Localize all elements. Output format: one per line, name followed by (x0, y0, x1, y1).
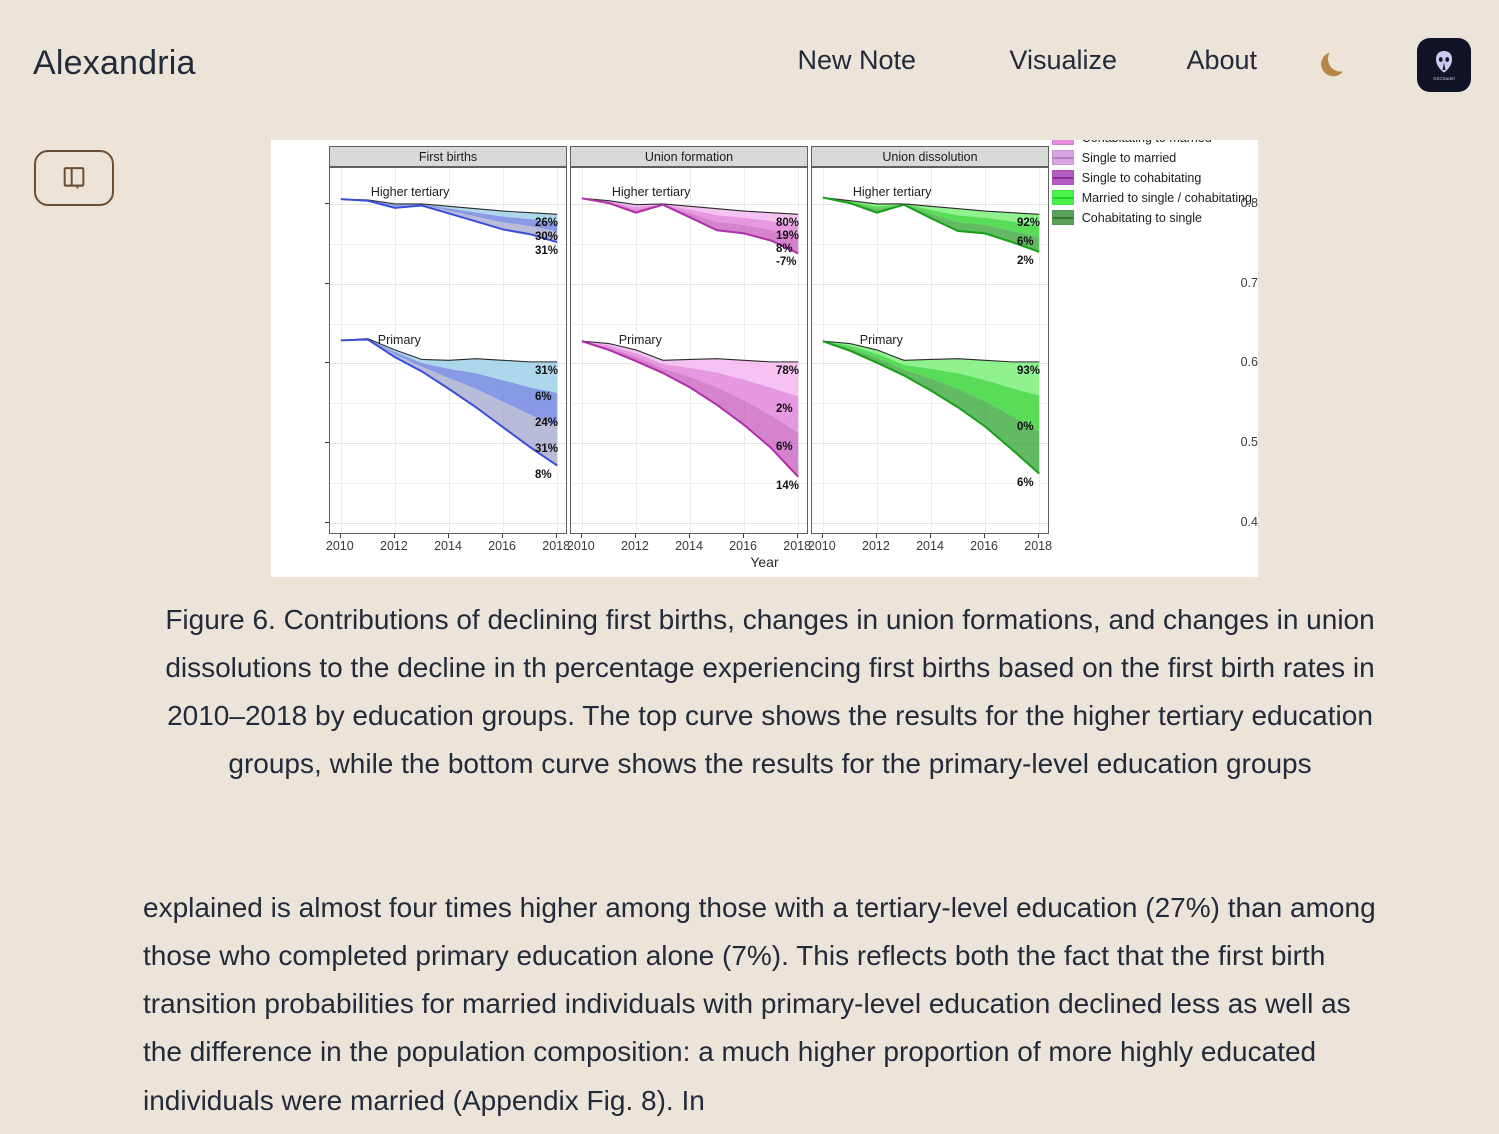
curve-group-label: Primary (860, 333, 903, 347)
chart-panel (329, 167, 567, 534)
legend-swatch (1052, 140, 1074, 145)
dark-mode-toggle[interactable] (1309, 40, 1359, 90)
legend-item: Cohabitating to single (1052, 210, 1252, 225)
facet-strip-label: Union formation (570, 146, 808, 167)
x-axis-tick-mark (340, 534, 341, 538)
contribution-percent-label: 19% (776, 230, 799, 242)
curve-group-label: Higher tertiary (612, 185, 691, 199)
legend-swatch (1052, 150, 1074, 165)
contribution-percent-label: 0% (1017, 421, 1034, 433)
y-axis-tick: 0.4 (1208, 515, 1258, 529)
curve-group-label: Primary (378, 333, 421, 347)
x-axis-tick-mark (743, 534, 744, 538)
contribution-percent-label: 2% (1017, 255, 1034, 267)
x-axis-tick-mark (581, 534, 582, 538)
nav-link-about[interactable]: About (1186, 45, 1257, 76)
y-axis-tick: 0.6 (1208, 355, 1258, 369)
curve-group-label: Higher tertiary (853, 185, 932, 199)
legend-swatch (1052, 190, 1074, 205)
legend-item: Single to married (1052, 150, 1252, 165)
legend-item: Cohabitating to married (1052, 140, 1252, 145)
x-axis-tick-mark (822, 534, 823, 538)
x-axis-tick: 2014 (675, 539, 703, 553)
moon-icon (1314, 45, 1354, 85)
contribution-percent-label: 6% (535, 391, 552, 403)
contribution-percent-label: 8% (776, 243, 793, 255)
legend-label: Cohabitating to married (1082, 140, 1212, 145)
x-axis-tick: 2014 (916, 539, 944, 553)
chart-legend: Cohabitating to marriedSingle to married… (1052, 140, 1252, 225)
x-axis-label: Year (271, 554, 1258, 570)
contribution-percent-label: 2% (776, 403, 793, 415)
x-axis-tick-mark (502, 534, 503, 538)
x-axis-tick: 2012 (380, 539, 408, 553)
curve-group-label: Primary (619, 333, 662, 347)
figure-caption: Figure 6. Contributions of declining fir… (150, 596, 1390, 789)
x-axis-tick: 2010 (808, 539, 836, 553)
contribution-percent-label: 93% (1017, 365, 1040, 377)
contribution-percent-label: 92% (1017, 217, 1040, 229)
y-axis-tick: 0.5 (1208, 435, 1258, 449)
series-graphics (571, 168, 808, 534)
legend-swatch (1052, 210, 1074, 225)
x-axis-tick-mark (635, 534, 636, 538)
facet-strip-label: Union dissolution (811, 146, 1049, 167)
x-axis-tick: 2018 (542, 539, 570, 553)
body-paragraph: explained is almost four times higher am… (143, 884, 1391, 1125)
legend-label: Single to cohabitating (1082, 171, 1202, 185)
y-axis-tick: 0.7 (1208, 276, 1258, 290)
brand-title[interactable]: Alexandria (33, 44, 196, 83)
x-axis-tick-mark (689, 534, 690, 538)
x-axis-tick: 2016 (729, 539, 757, 553)
contribution-percent-label: 26% (535, 217, 558, 229)
contribution-percent-label: 78% (776, 365, 799, 377)
x-axis-tick-mark (930, 534, 931, 538)
legend-item: Married to single / cohabitating (1052, 190, 1252, 205)
legend-label: Married to single / cohabitating (1082, 191, 1252, 205)
facet-strip-label: First births (329, 146, 567, 167)
book-icon (60, 164, 88, 192)
contribution-percent-label: 6% (1017, 236, 1034, 248)
curve-group-label: Higher tertiary (371, 185, 450, 199)
legend-item: Single to cohabitating (1052, 170, 1252, 185)
x-axis-tick-mark (1038, 534, 1039, 538)
gitcitadel-logo-button[interactable]: GitCitadel (1417, 38, 1471, 92)
legend-label: Cohabitating to single (1082, 211, 1202, 225)
contribution-percent-label: 6% (776, 441, 793, 453)
x-axis-tick: 2018 (783, 539, 811, 553)
x-axis-tick: 2012 (621, 539, 649, 553)
contribution-percent-label: 31% (535, 245, 558, 257)
x-axis-tick: 2016 (488, 539, 516, 553)
contribution-percent-label: 8% (535, 469, 552, 481)
x-axis-tick: 2014 (434, 539, 462, 553)
nav-link-visualize[interactable]: Visualize (1009, 45, 1117, 76)
contribution-percent-label: 24% (535, 417, 558, 429)
contribution-percent-label: 30% (535, 231, 558, 243)
contribution-percent-label: 6% (1017, 477, 1034, 489)
x-axis-tick-mark (797, 534, 798, 538)
chart-panel (811, 167, 1049, 534)
nav-link-new-note[interactable]: New Note (797, 45, 916, 76)
legend-label: Single to married (1082, 151, 1177, 165)
x-axis-tick: 2012 (862, 539, 890, 553)
contribution-percent-label: 31% (535, 443, 558, 455)
x-axis-tick-mark (876, 534, 877, 538)
x-axis-tick-mark (448, 534, 449, 538)
chart-panel (570, 167, 808, 534)
citadel-helmet-icon (1431, 49, 1457, 75)
x-axis-tick: 2016 (970, 539, 998, 553)
contribution-percent-label: 31% (535, 365, 558, 377)
x-axis-tick: 2010 (326, 539, 354, 553)
library-panel-button[interactable] (34, 150, 114, 206)
x-axis-tick: 2010 (567, 539, 595, 553)
logo-caption: GitCitadel (1433, 76, 1455, 81)
contribution-percent-label: 14% (776, 480, 799, 492)
contribution-percent-label: -7% (776, 256, 796, 268)
figure-image: % experiencing first birth0.40.50.60.70.… (271, 140, 1258, 577)
x-axis-tick-mark (984, 534, 985, 538)
x-axis-tick-mark (394, 534, 395, 538)
contribution-percent-label: 80% (776, 217, 799, 229)
x-axis-tick: 2018 (1024, 539, 1052, 553)
x-axis-tick-mark (556, 534, 557, 538)
top-navigation-bar: Alexandria New Note Visualize About GitC… (0, 0, 1499, 128)
series-graphics (812, 168, 1049, 534)
series-graphics (330, 168, 567, 534)
legend-swatch (1052, 170, 1074, 185)
